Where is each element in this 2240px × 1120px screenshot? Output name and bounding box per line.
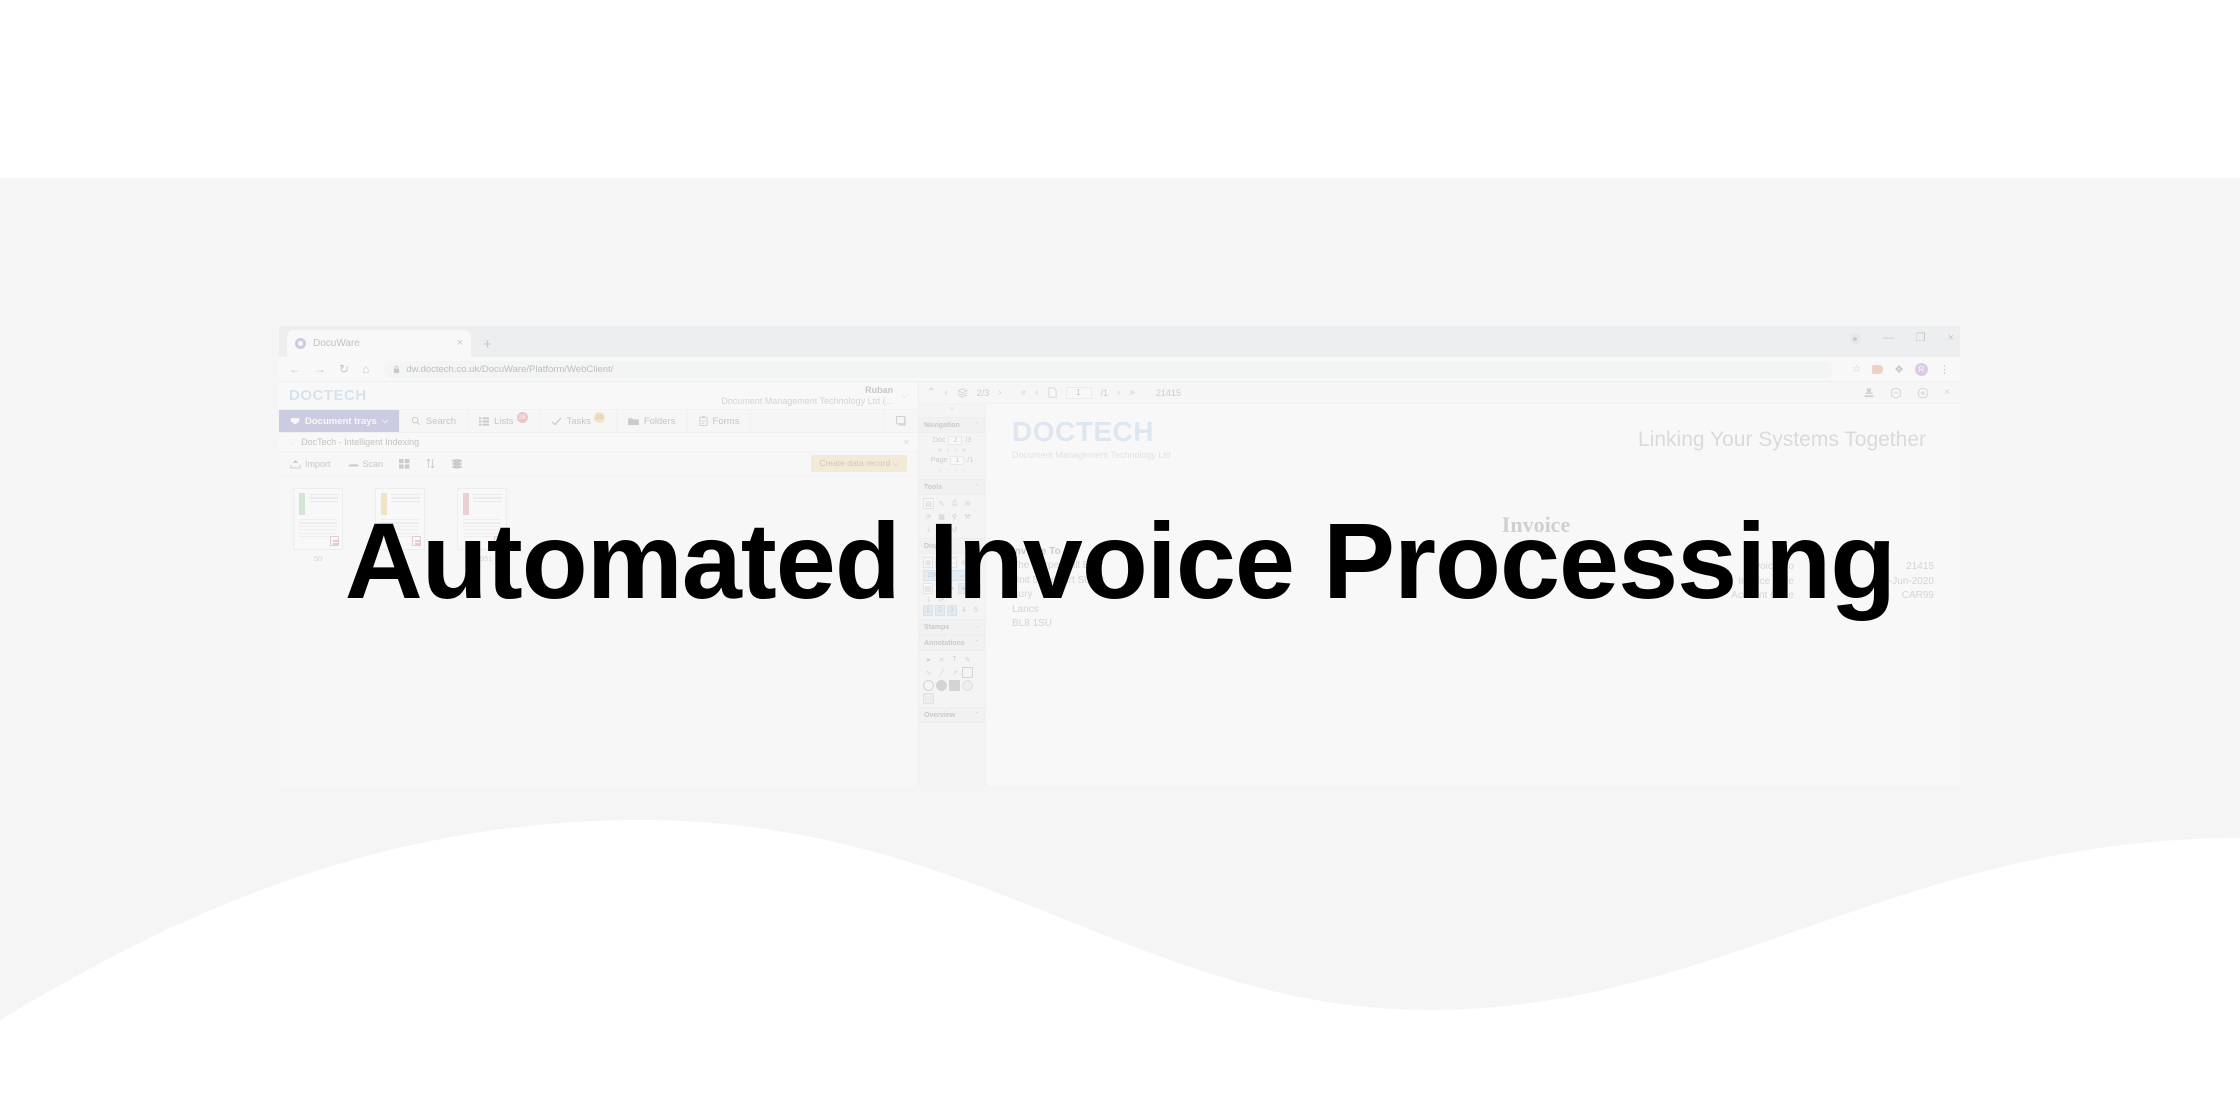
next-stack-icon[interactable]: › bbox=[998, 387, 1001, 398]
invoice-meta-label: Account Code bbox=[1634, 589, 1794, 604]
document-counter: 2/3 bbox=[977, 388, 990, 398]
fit-buttons-row: ⊞ ⊡ ⛶ ⊖ ⊕ bbox=[923, 557, 981, 568]
section-title-display: Display bbox=[924, 543, 949, 550]
invoice-meta-block: Invoice No 21415 Invoice Date 30-Jun-202… bbox=[1634, 546, 1934, 632]
history-icon[interactable]: ⟳ bbox=[923, 511, 934, 522]
nav-item-search[interactable]: Search bbox=[400, 410, 468, 432]
form-icon bbox=[699, 416, 708, 426]
settings-icon[interactable] bbox=[1850, 333, 1861, 344]
chevron-down-icon[interactable]: ⌵ bbox=[901, 390, 908, 401]
ellipse-icon[interactable] bbox=[923, 680, 934, 691]
section-header-navigation[interactable]: Navigation ⌃ bbox=[919, 417, 985, 433]
next-page-icon[interactable]: › bbox=[1117, 387, 1120, 398]
folder-icon bbox=[628, 417, 639, 426]
close-icon[interactable]: × bbox=[457, 338, 463, 349]
squiggle-icon[interactable]: ∿ bbox=[923, 667, 934, 678]
address-bar[interactable]: dw.doctech.co.uk/DocuWare/Platform/WebCl… bbox=[384, 361, 1833, 378]
maximize-button[interactable]: ❐ bbox=[1916, 333, 1926, 344]
address-bar-url: dw.doctech.co.uk/DocuWare/Platform/WebCl… bbox=[406, 364, 613, 375]
fit-selection-icon[interactable]: ⛶ bbox=[947, 557, 957, 568]
invoice-document-page: DOCTECH Document Management Technology L… bbox=[986, 404, 1960, 786]
tray-item[interactable]: 2 bbox=[375, 488, 425, 563]
section-header-tools[interactable]: Tools ⌃ bbox=[919, 479, 985, 495]
section-title-overview: Overview bbox=[924, 712, 955, 719]
document-id: 21415 bbox=[1156, 388, 1181, 398]
mail-icon[interactable]: ✉ bbox=[962, 498, 973, 509]
tray-item-label: 19951 bbox=[457, 554, 507, 563]
browser-tab[interactable]: DocuWare × bbox=[287, 330, 471, 357]
document-viewer-pane: ⌃ ‹ 2/3 › « ‹ 1 /1 › » 21415 bbox=[919, 382, 1960, 786]
stamp-icon[interactable] bbox=[1863, 387, 1875, 399]
doctech-logo: DOCTECH bbox=[289, 387, 367, 404]
browser-extensions: ☆ ❖ R ⋮ bbox=[1846, 363, 1950, 376]
hatched-square-icon[interactable] bbox=[923, 693, 934, 704]
invoice-meta-value: 30-Jun-2020 bbox=[1794, 575, 1934, 590]
status-stripe bbox=[381, 493, 387, 515]
avatar[interactable]: R bbox=[1915, 363, 1928, 376]
next-page-icon: › bbox=[955, 467, 957, 474]
section-title-tools: Tools bbox=[924, 484, 942, 491]
panel-collapse-icon[interactable]: ⌃ bbox=[919, 404, 985, 417]
text-icon[interactable]: T bbox=[949, 654, 960, 665]
chevron-up-icon: ⌃ bbox=[974, 711, 980, 719]
close-icon[interactable]: × bbox=[904, 437, 909, 447]
section-header-stamps[interactable]: Stamps ⌵ bbox=[919, 619, 985, 635]
tray-toolbar: Import Scan bbox=[279, 452, 918, 476]
thumb-header-lines bbox=[309, 494, 338, 504]
browser-urlbar: ← → ↻ ⌂ dw.doctech.co.uk/DocuWare/Platfo… bbox=[279, 357, 1960, 382]
docuware-header: DOCTECH Ruban Document Management Techno… bbox=[279, 382, 918, 410]
nav-label-document-trays: Document trays bbox=[305, 416, 377, 427]
minimize-button[interactable]: — bbox=[1883, 333, 1894, 344]
search-icon bbox=[411, 416, 421, 426]
import-button[interactable]: Import bbox=[290, 459, 331, 469]
stack-button[interactable] bbox=[451, 459, 463, 469]
page-icon bbox=[1048, 387, 1057, 398]
undo-icon[interactable]: ↺ bbox=[949, 524, 960, 535]
document-thumbnail[interactable] bbox=[457, 488, 507, 550]
document-thumbnail[interactable] bbox=[375, 488, 425, 550]
first-page-icon[interactable]: « bbox=[1021, 387, 1027, 398]
page-label: Page bbox=[931, 457, 947, 464]
document-thumbnail[interactable] bbox=[293, 488, 343, 550]
layers-icon bbox=[957, 388, 968, 398]
rectangle-icon[interactable] bbox=[962, 667, 973, 678]
invoice-to-block: Invoice To The Carpet Mill Bury Unit 5 S… bbox=[1012, 546, 1312, 632]
pdf-icon bbox=[330, 536, 339, 546]
status-stripe bbox=[299, 493, 305, 515]
clip-icon[interactable]: ⚲ bbox=[949, 511, 960, 522]
scan-label: Scan bbox=[363, 459, 384, 469]
page-button-5[interactable]: 5 bbox=[971, 605, 981, 616]
page-number-input[interactable]: 1 bbox=[950, 456, 964, 465]
invoice-to-line: Unit 5 Stewart Street bbox=[1012, 574, 1312, 589]
window-close-button[interactable]: × bbox=[1948, 333, 1954, 344]
page-total: /1 bbox=[967, 457, 973, 464]
viewer-toolbar-right: × bbox=[1863, 387, 1952, 399]
nav-item-folders[interactable]: Folders bbox=[617, 410, 688, 432]
lock-icon bbox=[393, 365, 400, 374]
display-controls: ⊞ ⊡ ⛶ ⊖ ⊕ 150% ⌵ 🔍 bbox=[919, 554, 985, 619]
favorite-star-icon[interactable]: ☆ bbox=[288, 437, 296, 448]
fit-width-icon[interactable]: ⊞ bbox=[923, 557, 933, 568]
section-header-overview[interactable]: Overview ⌃ bbox=[919, 707, 985, 723]
nav-label-tasks: Tasks bbox=[567, 416, 591, 427]
invoice-to-heading: Invoice To bbox=[1012, 546, 1312, 557]
viewer-body: ⌃ Navigation ⌃ Doc 2 /3 « ‹ bbox=[919, 404, 1960, 786]
zoom-level-select[interactable]: 150% ⌵ bbox=[923, 570, 968, 581]
lists-badge: 28 bbox=[517, 412, 528, 423]
zoom-out-icon[interactable]: ⊖ bbox=[959, 557, 969, 568]
viewer-toolbar: ⌃ ‹ 2/3 › « ‹ 1 /1 › » 21415 bbox=[919, 382, 1960, 404]
zoom-row: 150% ⌵ 🔍 bbox=[923, 568, 981, 583]
tray-item-label: 50 bbox=[293, 554, 343, 563]
scan-icon bbox=[347, 459, 359, 468]
page-button-4[interactable]: 4 bbox=[959, 605, 969, 616]
align-icon[interactable]: ⤓ bbox=[923, 594, 934, 605]
nav-label-forms: Forms bbox=[713, 416, 740, 427]
enhance-icon[interactable]: ✦ bbox=[958, 583, 968, 594]
browser-tab-title: DocuWare bbox=[313, 338, 450, 349]
section-title-navigation: Navigation bbox=[924, 422, 960, 429]
doc-total: /3 bbox=[965, 437, 971, 444]
first-doc-icon[interactable]: « bbox=[938, 447, 942, 454]
filled-square-icon[interactable] bbox=[949, 680, 960, 691]
invoice-meta-row: Invoice No 21415 bbox=[1634, 560, 1934, 575]
extensions-puzzle-icon[interactable]: ❖ bbox=[1894, 363, 1904, 376]
chevron-up-icon: ⌃ bbox=[974, 542, 980, 550]
docuware-favicon bbox=[295, 338, 306, 349]
page-total: /1 bbox=[1101, 388, 1109, 398]
save-icon[interactable]: ▤ bbox=[923, 498, 934, 509]
tools-icon-grid: ▤ ✎ ⎙ ✉ ⟳ ▦ ⚲ ⚒ ⤓ ▣ ↺ bbox=[919, 495, 985, 538]
section-header-display[interactable]: Display ⌃ bbox=[919, 538, 985, 554]
invoice-meta-label: Invoice No bbox=[1634, 560, 1794, 575]
window-controls: — ❐ × bbox=[1850, 333, 1954, 344]
viewer-side-panel: ⌃ Navigation ⌃ Doc 2 /3 « ‹ bbox=[919, 404, 986, 786]
clipboard-icon[interactable]: ▣ bbox=[936, 524, 947, 535]
last-page-icon[interactable]: » bbox=[1129, 387, 1135, 398]
invoice-to-line: BL8 1SU bbox=[1012, 617, 1312, 632]
docuware-app: DOCTECH Ruban Document Management Techno… bbox=[279, 382, 1960, 786]
stack-icon bbox=[451, 459, 463, 469]
doc-number-input[interactable]: 2 bbox=[948, 436, 962, 445]
section-title-annotations: Annotations bbox=[924, 640, 965, 647]
grid-view-button[interactable] bbox=[399, 459, 410, 469]
previous-page-icon[interactable]: ‹ bbox=[1035, 387, 1038, 398]
prev-page-icon: ‹ bbox=[947, 467, 949, 474]
pdf-icon bbox=[412, 536, 421, 546]
section-title-stamps: Stamps bbox=[924, 624, 949, 631]
chevron-up-icon: ⌃ bbox=[974, 483, 980, 491]
pdf-icon bbox=[494, 536, 503, 546]
fit-page-icon[interactable]: ⊡ bbox=[935, 557, 945, 568]
tray-item-label: 2 bbox=[375, 554, 425, 563]
tasks-badge: 20 bbox=[594, 412, 605, 423]
reload-icon[interactable]: ↻ bbox=[339, 363, 349, 375]
page-button-3[interactable]: 3 bbox=[947, 605, 957, 616]
document-tray-grid: 50 2 bbox=[279, 476, 918, 575]
last-doc-icon[interactable]: » bbox=[962, 447, 966, 454]
print-icon[interactable]: ⎙ bbox=[949, 498, 960, 509]
image-icon[interactable]: 🖼 bbox=[970, 583, 981, 594]
nav-item-forms[interactable]: Forms bbox=[688, 410, 752, 432]
page-navigation-row: Page 1 /1 bbox=[923, 456, 981, 465]
x-mark-icon[interactable]: ✕ bbox=[936, 654, 947, 665]
chevron-down-icon[interactable]: ⌵ bbox=[382, 416, 388, 426]
scan-button[interactable]: Scan bbox=[347, 459, 384, 469]
invoice-tagline: Linking Your Systems Together bbox=[1638, 428, 1926, 452]
split-icon[interactable]: ▦ bbox=[936, 511, 947, 522]
window-split-icon bbox=[896, 416, 907, 426]
nav-item-lists[interactable]: Lists 28 bbox=[468, 410, 540, 432]
thumb-header-lines bbox=[473, 494, 502, 504]
list-icon bbox=[479, 417, 489, 426]
chevron-up-icon: ⌃ bbox=[974, 421, 980, 429]
last-page-icon: » bbox=[962, 467, 966, 474]
wrench-icon[interactable]: ⚒ bbox=[962, 511, 973, 522]
window-split-button[interactable] bbox=[885, 410, 918, 432]
invoice-meta-row: Account Code CAR99 bbox=[1634, 589, 1934, 604]
open-document-tab[interactable]: ☆ DocTech - Intelligent Indexing × bbox=[279, 433, 918, 452]
next-doc-icon[interactable]: › bbox=[955, 447, 957, 454]
page-arrows: « ‹ › » bbox=[923, 467, 981, 474]
doc-label: Doc bbox=[933, 437, 945, 444]
invoice-meta-label: Invoice Date bbox=[1634, 575, 1794, 590]
status-stripe bbox=[463, 493, 469, 515]
download-icon[interactable]: ⤓ bbox=[923, 524, 934, 535]
rotate-right-icon[interactable]: ↷ bbox=[947, 583, 957, 594]
forward-icon[interactable]: → bbox=[314, 363, 326, 375]
browser-tabstrip: DocuWare × + — ❐ × bbox=[279, 326, 1960, 357]
check-icon bbox=[551, 417, 562, 426]
chevron-up-icon: ⌃ bbox=[974, 639, 980, 647]
nav-item-document-trays[interactable]: Document trays ⌵ bbox=[279, 410, 400, 432]
page-button-2[interactable]: 2 bbox=[935, 605, 945, 616]
invoice-meta-value: CAR99 bbox=[1794, 589, 1934, 604]
nav-label-folders: Folders bbox=[644, 416, 676, 427]
section-header-annotations[interactable]: Annotations ⌃ bbox=[919, 635, 985, 651]
user-organization: Document Management Technology Ltd (... bbox=[721, 396, 893, 406]
first-page-icon: « bbox=[938, 467, 942, 474]
edit-icon[interactable]: ✎ bbox=[936, 498, 947, 509]
page-button-1[interactable]: 1 bbox=[923, 605, 933, 616]
previous-stack-icon[interactable]: ‹ bbox=[944, 387, 947, 398]
save-view-icon[interactable]: ▤ bbox=[923, 583, 933, 594]
user-info[interactable]: Ruban Document Management Technology Ltd… bbox=[721, 385, 893, 406]
tray-item[interactable]: 19951 bbox=[457, 488, 507, 563]
zoom-in-icon[interactable]: ⊕ bbox=[971, 557, 981, 568]
rotate-left-icon[interactable]: ↶ bbox=[935, 583, 945, 594]
doc-navigation-row: Doc 2 /3 bbox=[923, 436, 981, 445]
import-label: Import bbox=[305, 459, 331, 469]
navigation-controls: Doc 2 /3 « ‹ › » Page 1 bbox=[919, 433, 985, 479]
nav-spacer bbox=[751, 410, 885, 432]
align-row: ⤓ ⟳ bbox=[923, 594, 981, 605]
rotate-row: ▤ ↶ ↷ ✦ 🖼 bbox=[923, 583, 981, 594]
sort-button[interactable] bbox=[426, 458, 435, 469]
browser-window-screenshot: DocuWare × + — ❐ × ← → ↻ ⌂ dw.doctech.co… bbox=[279, 326, 1960, 786]
nav-label-lists: Lists bbox=[494, 416, 514, 427]
invoice-to-line: Bury bbox=[1012, 588, 1312, 603]
invoice-to-line: Lancs bbox=[1012, 603, 1312, 618]
user-name: Ruban bbox=[721, 385, 893, 395]
thumb-header-lines bbox=[391, 494, 420, 504]
chevron-down-icon: ⌵ bbox=[959, 572, 964, 580]
invoice-meta-value: 21415 bbox=[1794, 560, 1934, 575]
back-icon[interactable]: ← bbox=[289, 363, 301, 375]
filled-ellipse-icon[interactable] bbox=[936, 680, 947, 691]
import-icon bbox=[290, 459, 301, 469]
docuware-main-nav: Document trays ⌵ Search Lists bbox=[279, 410, 918, 433]
document-trays-pane: DOCTECH Ruban Document Management Techno… bbox=[279, 382, 919, 786]
nav-item-tasks[interactable]: Tasks 20 bbox=[540, 410, 617, 432]
tray-icon bbox=[290, 417, 300, 426]
collapse-icon[interactable]: ⌃ bbox=[927, 387, 935, 398]
page-buttons-row: 1 2 3 4 5 bbox=[923, 605, 981, 616]
pen-icon[interactable]: ✎ bbox=[962, 654, 973, 665]
sort-icon bbox=[426, 458, 435, 469]
page-number-input[interactable]: 1 bbox=[1066, 387, 1092, 399]
invoice-meta-row: Invoice Date 30-Jun-2020 bbox=[1634, 575, 1934, 590]
prev-doc-icon[interactable]: ‹ bbox=[947, 447, 949, 454]
browser-menu-icon[interactable]: ⋮ bbox=[1939, 363, 1950, 376]
invoice-title: Invoice bbox=[1138, 512, 1934, 538]
invoice-columns: Invoice To The Carpet Mill Bury Unit 5 S… bbox=[1012, 546, 1934, 632]
cursor-icon[interactable]: ➤ bbox=[923, 654, 934, 665]
refresh-icon[interactable]: ⟳ bbox=[936, 594, 947, 605]
zoom-level-value: 150% bbox=[927, 572, 945, 579]
zoom-out-icon[interactable] bbox=[1890, 387, 1902, 399]
close-viewer-icon[interactable]: × bbox=[1944, 387, 1950, 398]
home-icon[interactable]: ⌂ bbox=[362, 363, 369, 375]
extension-orange-icon[interactable] bbox=[1872, 365, 1883, 374]
open-tab-label: DocTech - Intelligent Indexing bbox=[301, 437, 419, 447]
magnifier-icon[interactable]: 🔍 bbox=[970, 570, 981, 581]
bookmark-star-icon[interactable]: ☆ bbox=[1852, 364, 1861, 375]
grid-view-icon bbox=[399, 459, 410, 469]
zoom-in-icon[interactable] bbox=[1917, 387, 1929, 399]
new-tab-button[interactable]: + bbox=[483, 336, 492, 353]
chevron-down-icon: ⌵ bbox=[975, 623, 980, 631]
tray-item[interactable]: 50 bbox=[293, 488, 343, 563]
shaded-ellipse-icon[interactable] bbox=[962, 680, 973, 691]
nav-label-search: Search bbox=[426, 416, 456, 427]
doc-arrows: « ‹ › » bbox=[923, 447, 981, 454]
annotation-tools-grid: ➤ ✕ T ✎ ∿ ╱ ↗ bbox=[919, 651, 985, 707]
invoice-to-line: The Carpet Mill Bury bbox=[1012, 559, 1312, 574]
create-data-record-button[interactable]: Create data record ⌵ bbox=[811, 455, 907, 472]
arrow-icon[interactable]: ↗ bbox=[949, 667, 960, 678]
line-icon[interactable]: ╱ bbox=[936, 667, 947, 678]
